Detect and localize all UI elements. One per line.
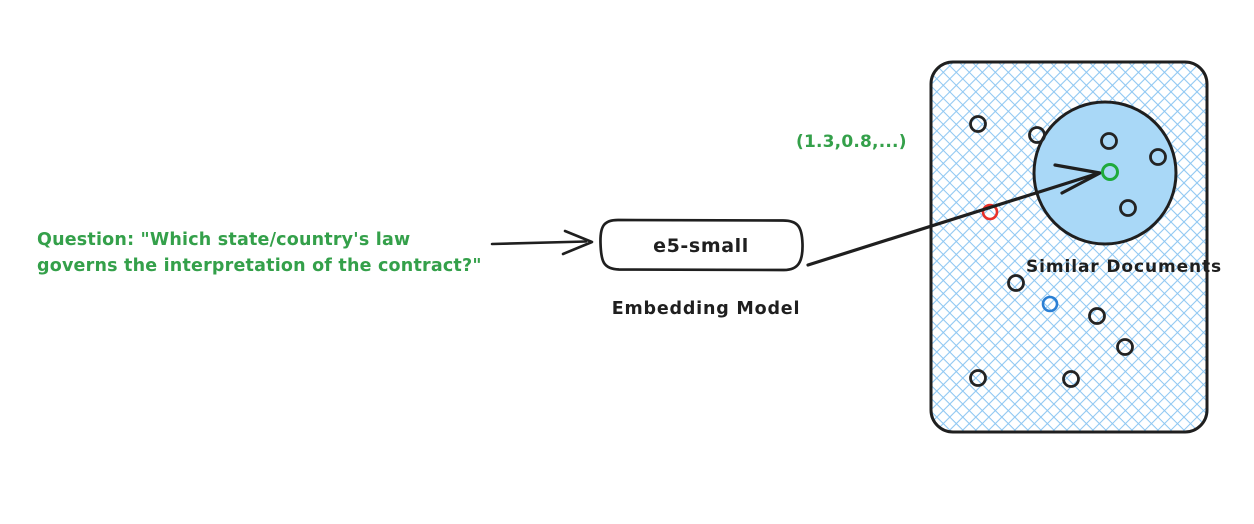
embedding-model-caption: Embedding Model (612, 299, 801, 319)
vector-label: (1.3,0.8,...) (796, 132, 907, 152)
arrow-shaft (492, 242, 586, 245)
question-text-block: Question: "Which state/country's law gov… (37, 230, 482, 276)
vector-space-panel: Similar Documents (931, 62, 1222, 432)
question-line-1: Question: "Which state/country's law (37, 230, 410, 250)
similar-documents-label: Similar Documents (1026, 257, 1222, 277)
arrow-question-to-model (492, 231, 592, 254)
diagram-canvas: Question: "Which state/country's law gov… (0, 0, 1254, 524)
embedding-retrieval-diagram: Question: "Which state/country's law gov… (0, 0, 1254, 524)
question-line-2: governs the interpretation of the contra… (37, 256, 482, 276)
model-box-label: e5-small (653, 235, 749, 257)
similar-documents-cluster-circle (1034, 102, 1176, 244)
embedding-model-box[interactable]: e5-small (600, 220, 802, 270)
